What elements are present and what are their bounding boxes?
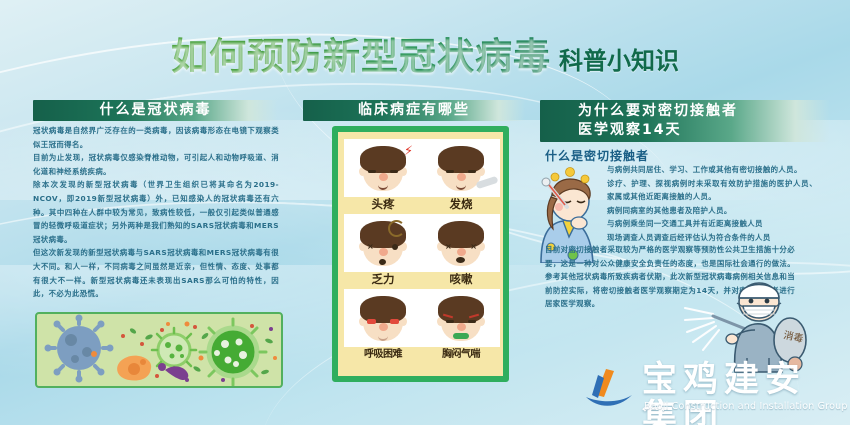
symptom-label: 头疼 bbox=[344, 197, 422, 212]
cough-face-icon: ×× bbox=[422, 214, 500, 272]
poster-main-title: 如何预防新型冠状病毒 bbox=[171, 26, 551, 80]
logo-name-cn: 宝鸡建安集团 bbox=[642, 361, 836, 425]
symptom-cell-fatigue: × 乏力 bbox=[344, 214, 422, 287]
section-header-what-is-coronavirus: 什么是冠状病毒 bbox=[33, 100, 278, 121]
worker-spraying-icon: 消毒 bbox=[683, 268, 818, 373]
poster-subtitle: 科普小知识 bbox=[559, 41, 679, 76]
symptom-label: 发烧 bbox=[422, 197, 500, 212]
right-definition-list: 与病例共同居住、学习、工作或其他有密切接触的人员。 诊疗、护理、探视病例时未采取… bbox=[607, 163, 817, 245]
fever-face-icon bbox=[422, 139, 500, 197]
virus-illustration-svg bbox=[37, 314, 281, 386]
left-body-text: 冠状病毒是自然界广泛存在的一类病毒，因该病毒形态在电镜下观察类似王冠而得名。 目… bbox=[33, 124, 279, 301]
definition-item-2: 诊疗、护理、探视病例时未采取有效防护措施的医护人员、家属或其他近距离接触的人员。 bbox=[607, 177, 817, 204]
left-paragraph-1: 冠状病毒是自然界广泛存在的一类病毒，因该病毒形态在电镜下观察类似王冠而得名。 bbox=[33, 124, 279, 151]
symptom-cell-chest-tightness: 胸闷气喘 bbox=[422, 289, 500, 362]
symptom-row-3: 呼吸困难 胸闷气喘 bbox=[344, 289, 497, 362]
symptom-label: 呼吸困难 bbox=[344, 347, 422, 362]
symptom-row-1: ⚡ 头疼 发烧 bbox=[344, 139, 497, 212]
symptom-cell-breathing-difficulty: 呼吸困难 bbox=[344, 289, 422, 362]
symptom-cell-fever: 发烧 bbox=[422, 139, 500, 212]
fatigue-face-icon: × bbox=[344, 214, 422, 272]
symptom-row-2: × 乏力 ×× 咳嗽 bbox=[344, 214, 497, 287]
definition-item-1: 与病例共同居住、学习、工作或其他有密切接触的人员。 bbox=[607, 163, 817, 177]
definition-item-3: 病例同病室的其他患者及陪护人员。 bbox=[607, 204, 817, 218]
symptom-label: 乏力 bbox=[344, 272, 422, 287]
symptom-cell-headache: ⚡ 头疼 bbox=[344, 139, 422, 212]
logo-mark-icon bbox=[584, 367, 636, 411]
headache-face-icon: ⚡ bbox=[344, 139, 422, 197]
company-logo: 宝鸡建安集团 Baoji Construction and Installati… bbox=[584, 359, 836, 421]
section-header-close-contact-observation: 为什么要对密切接触者 医学观察14天 bbox=[540, 100, 830, 142]
virus-illustration bbox=[35, 312, 283, 388]
right-subheading: 什么是密切接触者 bbox=[545, 147, 649, 164]
poster-title-block: 如何预防新型冠状病毒科普小知识 bbox=[0, 26, 850, 80]
symptom-label: 咳嗽 bbox=[422, 272, 500, 287]
right-header-line-2: 医学观察14天 bbox=[540, 121, 830, 140]
chest-tightness-face-icon bbox=[422, 289, 500, 347]
section-header-clinical-symptoms: 临床病症有哪些 bbox=[303, 100, 525, 121]
left-paragraph-2: 目前为止发现，冠状病毒仅感染脊椎动物，可引起人和动物呼吸道、消化道和神经系统疾病… bbox=[33, 151, 279, 178]
right-header-line-1: 为什么要对密切接触者 bbox=[540, 102, 830, 121]
definition-item-4: 与病例乘坐同一交通工具并有近距离接触人员 bbox=[607, 217, 817, 231]
left-paragraph-3: 除本次发现的新型冠状病毒（世界卫生组织已将其命名为2019-NCOV，即2019… bbox=[33, 178, 279, 246]
symptom-cell-cough: ×× 咳嗽 bbox=[422, 214, 500, 287]
breathing-difficulty-face-icon bbox=[344, 289, 422, 347]
logo-name-en: Baoji Construction and Installation Grou… bbox=[644, 401, 850, 412]
left-paragraph-4: 但这次新发现的新型冠状病毒与SARS冠状病毒和MERS冠状病毒有很大不同。和人一… bbox=[33, 246, 279, 300]
symptom-label: 胸闷气喘 bbox=[422, 347, 500, 362]
symptoms-card: ⚡ 头疼 发烧 × bbox=[332, 126, 509, 382]
poster-canvas: 如何预防新型冠状病毒科普小知识 什么是冠状病毒 冠状病毒是自然界广泛存在的一类病… bbox=[0, 0, 850, 425]
